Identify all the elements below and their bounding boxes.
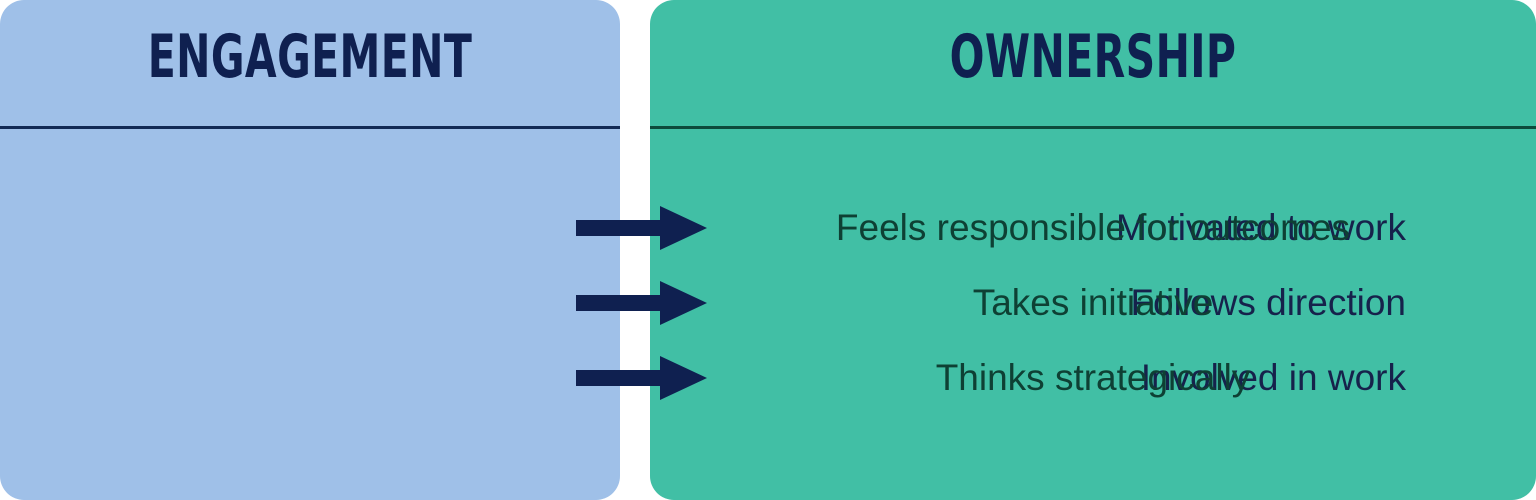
panel-engagement: ENGAGEMENT xyxy=(0,0,620,500)
comparison-diagram: ENGAGEMENT OWNERSHIP Motivated to work F… xyxy=(0,0,1536,471)
panel-engagement-divider xyxy=(0,126,620,129)
ownership-item-0: Feels responsible for outcomes xyxy=(650,206,1536,250)
panel-ownership: OWNERSHIP xyxy=(650,0,1536,500)
panel-ownership-title: OWNERSHIP xyxy=(756,22,1429,92)
ownership-item-1: Takes initiative xyxy=(650,281,1536,325)
ownership-item-2: Thinks strategically xyxy=(650,356,1536,400)
panel-engagement-title: ENGAGEMENT xyxy=(74,22,545,92)
panel-ownership-divider xyxy=(650,126,1536,129)
